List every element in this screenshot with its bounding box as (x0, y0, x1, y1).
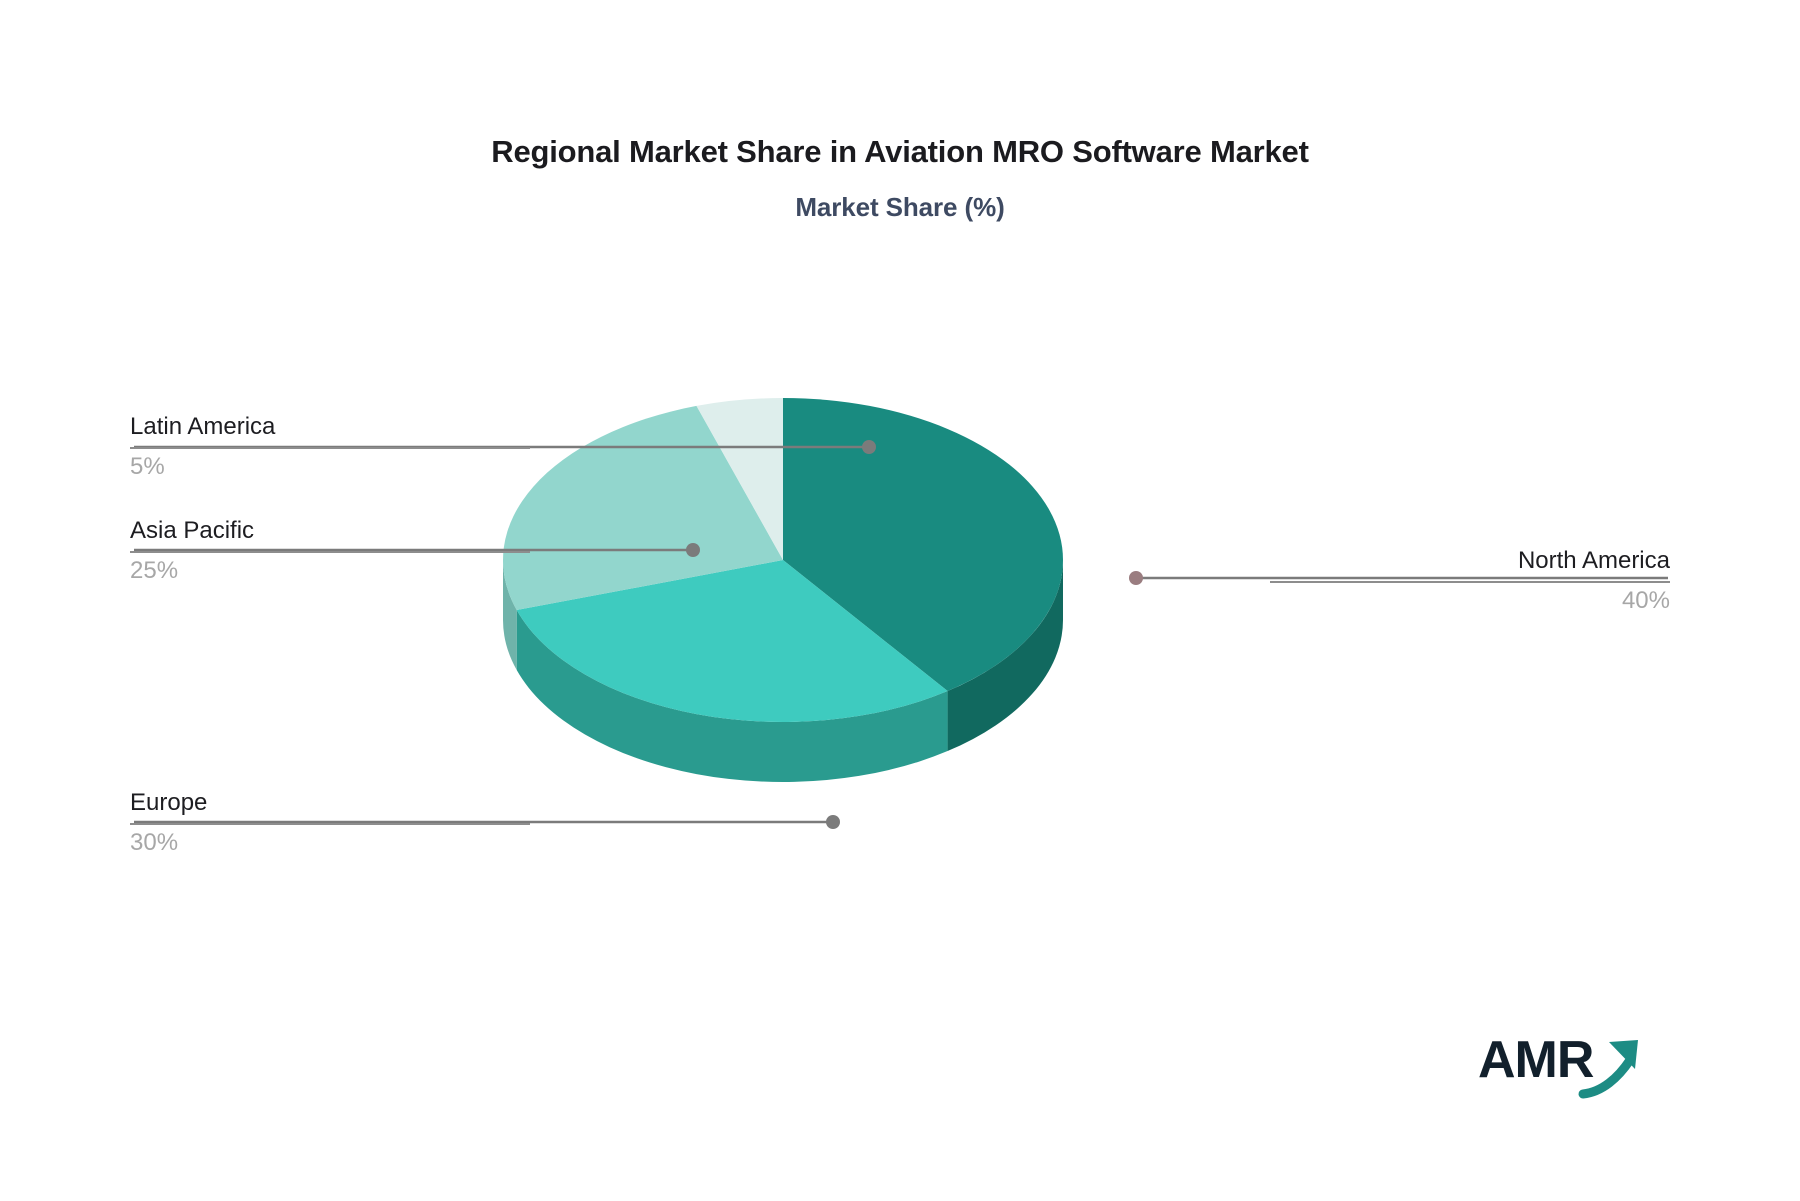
callout-latin-america: Latin America 5% (130, 412, 530, 483)
chart-canvas: Regional Market Share in Aviation MRO So… (0, 0, 1800, 1196)
callout-label-asia-pacific: Asia Pacific (130, 516, 530, 546)
callout-label-latin-america: Latin America (130, 412, 530, 442)
callout-value-north-america: 40% (1270, 585, 1670, 617)
leader-dot-latin-america (862, 440, 876, 454)
callout-value-latin-america: 5% (130, 451, 530, 483)
leader-dot-europe (826, 815, 840, 829)
callout-rule (1270, 581, 1670, 583)
leader-dot-north-america (1129, 571, 1143, 585)
callout-rule (130, 447, 530, 449)
callout-asia-pacific: Asia Pacific 25% (130, 516, 530, 587)
leader-dot-asia-pacific (686, 543, 700, 557)
callout-rule (130, 823, 530, 825)
growth-arrow-icon (1478, 1030, 1658, 1110)
callout-europe: Europe 30% (130, 788, 530, 859)
callout-north-america: North America 40% (1270, 546, 1670, 617)
callout-label-europe: Europe (130, 788, 530, 818)
callout-rule (130, 551, 530, 553)
callout-label-north-america: North America (1270, 546, 1670, 576)
callout-value-europe: 30% (130, 827, 530, 859)
callout-value-asia-pacific: 25% (130, 555, 530, 587)
amr-logo: AMR (1478, 1030, 1658, 1110)
